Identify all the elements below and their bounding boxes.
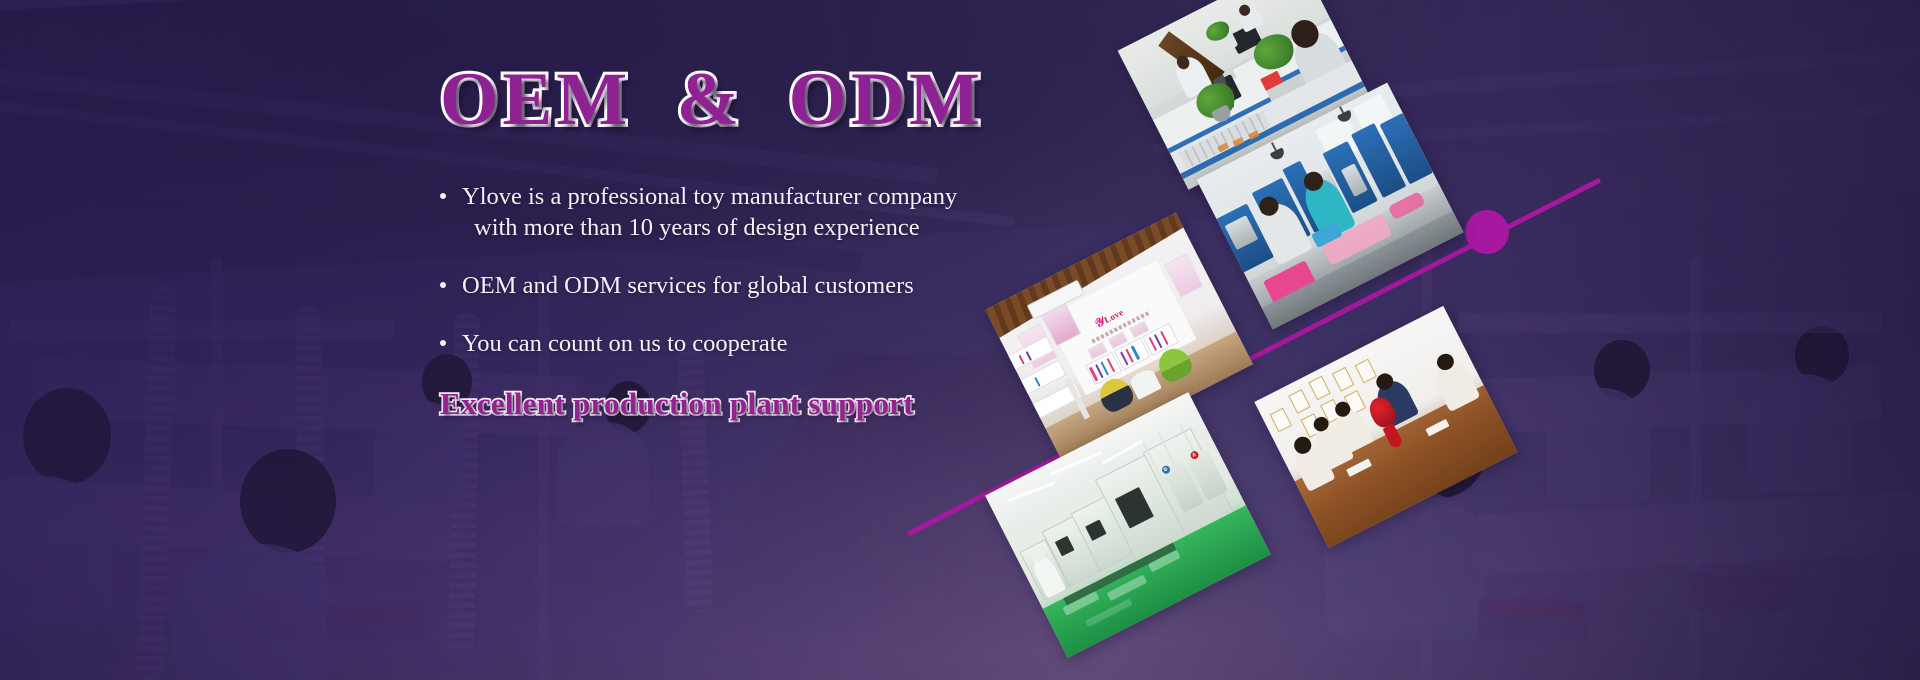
bullet-dot-icon	[440, 340, 446, 346]
cleanroom-machines-photo: B A	[985, 392, 1271, 658]
list-item: OEM and ODM services for global customer…	[440, 270, 1060, 301]
meeting-room-photo	[1254, 306, 1517, 548]
banner-copy: OEM & ODM Ylove is a professional toy ma…	[440, 62, 1060, 422]
list-item: Ylove is a professional toy manufacturer…	[440, 181, 1060, 243]
feature-bullet-list: Ylove is a professional toy manufacturer…	[440, 181, 1060, 359]
bullet-line-2: with more than 10 years of design experi…	[462, 212, 1060, 243]
tagline: Excellent production plant support	[440, 386, 1060, 422]
oem-odm-banner: 𝒴Love	[0, 0, 1920, 680]
page-title: OEM & ODM	[440, 62, 1060, 137]
bullet-dot-icon	[440, 193, 446, 199]
bullet-line-1: You can count on us to cooperate	[462, 330, 787, 357]
bullet-line-1: Ylove is a professional toy manufacturer…	[462, 183, 957, 210]
bullet-line-1: OEM and ODM services for global customer…	[462, 272, 914, 299]
list-item: You can count on us to cooperate	[440, 328, 1060, 359]
bullet-dot-icon	[440, 282, 446, 288]
